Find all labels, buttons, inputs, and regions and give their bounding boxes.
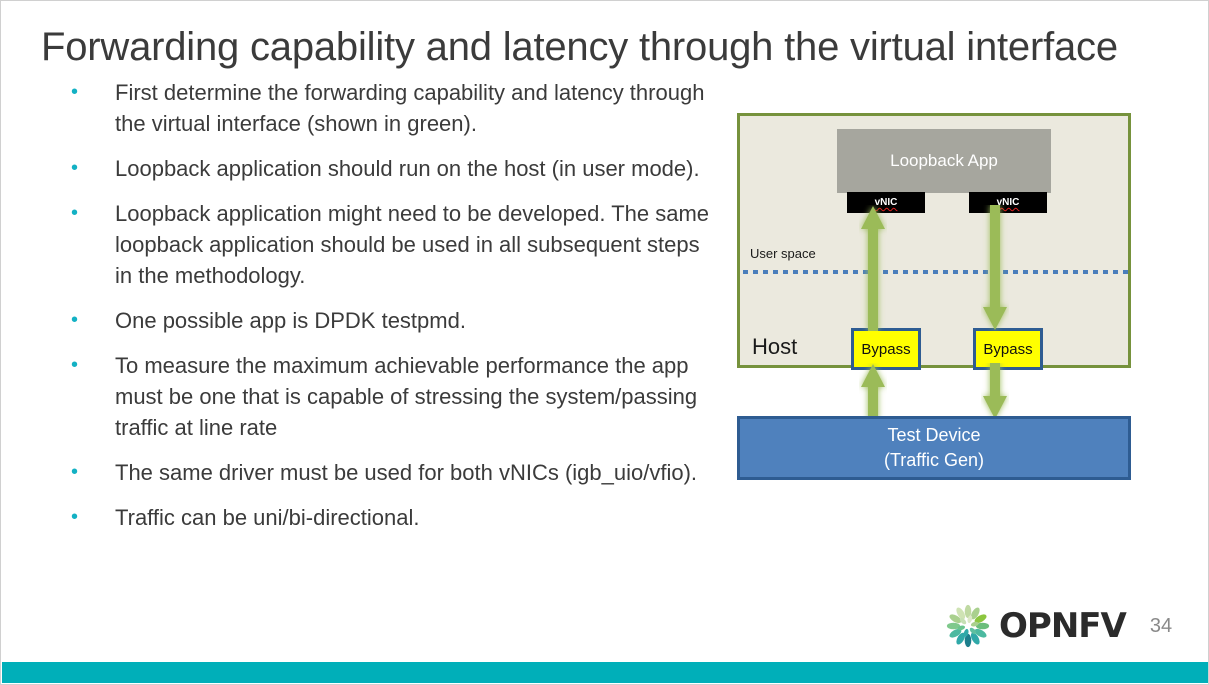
- vnic-box-left: vNIC: [847, 192, 925, 213]
- arrow-up-icon-host-left: [859, 363, 887, 420]
- bypass-box-right: Bypass: [973, 328, 1043, 370]
- page-title: Forwarding capability and latency throug…: [41, 23, 1161, 71]
- list-item-text: To measure the maximum achievable perfor…: [115, 350, 715, 443]
- host-container: User space Host Loopback App vNIC vNIC B…: [737, 113, 1131, 368]
- host-label: Host: [752, 334, 797, 360]
- bottom-accent-bar: [2, 662, 1209, 683]
- bullet-marker-icon: •: [65, 153, 115, 183]
- bypass-box-left: Bypass: [851, 328, 921, 370]
- list-item: • Traffic can be uni/bi-directional.: [65, 502, 715, 533]
- user-kernel-divider: [743, 270, 1131, 274]
- test-device-line2: (Traffic Gen): [884, 448, 984, 473]
- list-item: • To measure the maximum achievable perf…: [65, 350, 715, 443]
- bullet-marker-icon: •: [65, 350, 115, 380]
- vnic-box-right: vNIC: [969, 192, 1047, 213]
- test-device-box: Test Device (Traffic Gen): [737, 416, 1131, 480]
- page-number: 34: [1150, 615, 1172, 638]
- list-item-text: First determine the forwarding capabilit…: [115, 77, 715, 139]
- list-item-text: Traffic can be uni/bi-directional.: [115, 502, 715, 533]
- vnic-label: vNIC: [997, 197, 1020, 208]
- list-item-text: Loopback application should run on the h…: [115, 153, 715, 184]
- list-item: • First determine the forwarding capabil…: [65, 77, 715, 139]
- bullet-marker-icon: •: [65, 502, 115, 532]
- list-item-text: One possible app is DPDK testpmd.: [115, 305, 715, 336]
- list-item: • Loopback application should run on the…: [65, 153, 715, 184]
- brand-footer: OPNFV 34: [945, 604, 1172, 648]
- user-space-label: User space: [750, 246, 816, 261]
- test-device-line1: Test Device: [887, 423, 980, 448]
- vnic-label: vNIC: [875, 197, 898, 208]
- list-item: • The same driver must be used for both …: [65, 457, 715, 488]
- bullet-marker-icon: •: [65, 198, 115, 228]
- loopback-app-box: Loopback App: [837, 129, 1051, 193]
- arrow-down-icon-host-right: [981, 363, 1009, 420]
- bullet-list: • First determine the forwarding capabil…: [65, 77, 715, 547]
- opnfv-wordmark: OPNFV: [999, 606, 1126, 646]
- bullet-marker-icon: •: [65, 77, 115, 107]
- list-item: • Loopback application might need to be …: [65, 198, 715, 291]
- bullet-marker-icon: •: [65, 457, 115, 487]
- slide-canvas: Forwarding capability and latency throug…: [0, 0, 1209, 685]
- opnfv-petal-burst-icon: [945, 604, 991, 648]
- list-item: • One possible app is DPDK testpmd.: [65, 305, 715, 336]
- list-item-text: Loopback application might need to be de…: [115, 198, 715, 291]
- bullet-marker-icon: •: [65, 305, 115, 335]
- list-item-text: The same driver must be used for both vN…: [115, 457, 715, 488]
- architecture-diagram: User space Host Loopback App vNIC vNIC B…: [737, 113, 1131, 488]
